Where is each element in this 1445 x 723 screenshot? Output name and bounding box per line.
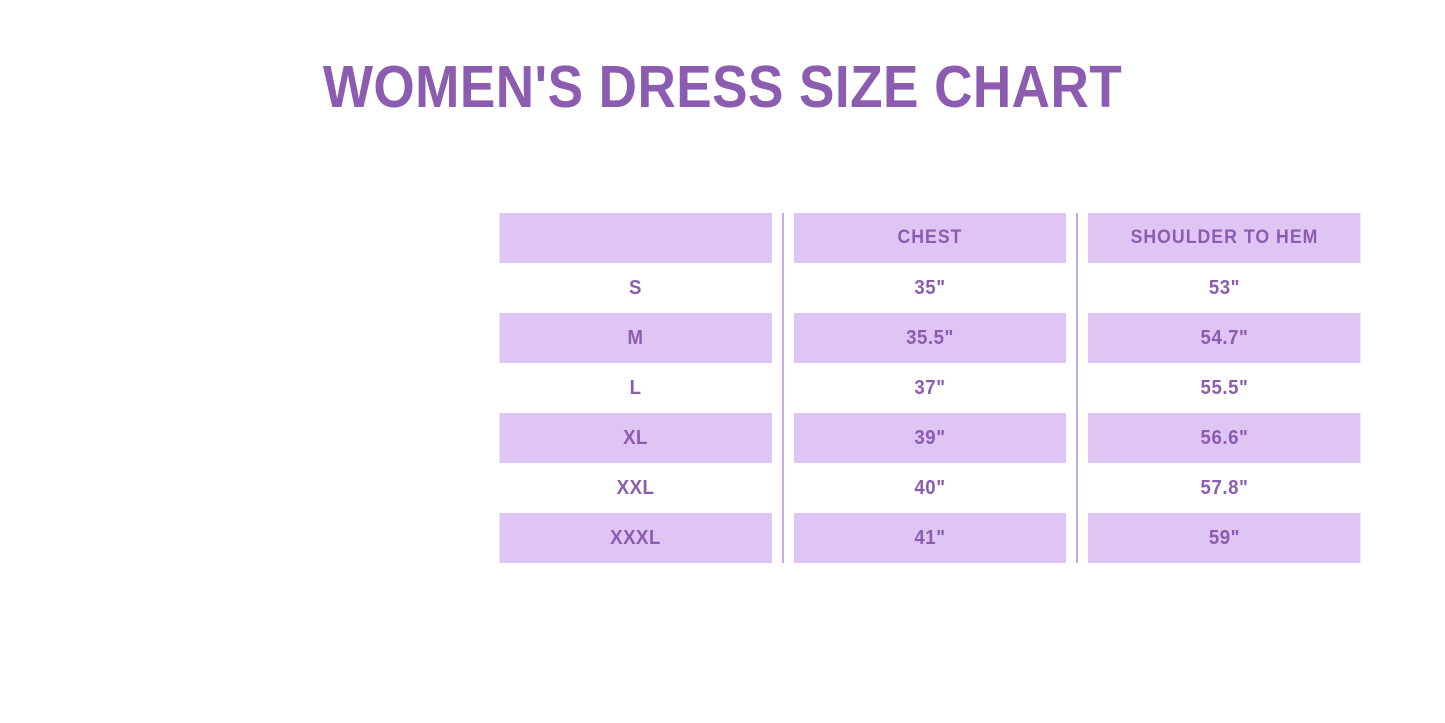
cell-size: XXXL (499, 513, 772, 563)
table-header-row: CHEST SHOULDER TO HEM (489, 213, 1371, 263)
cell-chest: 37" (793, 363, 1066, 413)
cell-size: XXL (499, 463, 772, 513)
cell-shoulder-to-hem: 59" (1087, 513, 1360, 563)
column-header-shoulder-to-hem: SHOULDER TO HEM (1087, 213, 1360, 263)
cell-chest: 39" (793, 413, 1066, 463)
cell-chest: 35" (793, 263, 1066, 313)
table-row: S 35" 53" (489, 263, 1371, 313)
cell-chest: 40" (793, 463, 1066, 513)
cell-chest: 41" (793, 513, 1066, 563)
cell-size: M (499, 313, 772, 363)
cell-shoulder-to-hem: 57.8" (1087, 463, 1360, 513)
column-header-chest: CHEST (793, 213, 1066, 263)
cell-shoulder-to-hem: 55.5" (1087, 363, 1360, 413)
column-header-size (499, 213, 772, 263)
cell-shoulder-to-hem: 56.6" (1087, 413, 1360, 463)
cell-shoulder-to-hem: 53" (1087, 263, 1360, 313)
table-row: XXXL 41" 59" (489, 513, 1371, 563)
table-row: L 37" 55.5" (489, 363, 1371, 413)
size-chart-table: CHEST SHOULDER TO HEM S 35" 53" M 35.5" … (489, 213, 1371, 563)
cell-chest: 35.5" (793, 313, 1066, 363)
table-row: XL 39" 56.6" (489, 413, 1371, 463)
cell-size: S (499, 263, 772, 313)
table-row: XXL 40" 57.8" (489, 463, 1371, 513)
cell-size: XL (499, 413, 772, 463)
table-row: M 35.5" 54.7" (489, 313, 1371, 363)
cell-shoulder-to-hem: 54.7" (1087, 313, 1360, 363)
page-title: WOMEN'S DRESS SIZE CHART (72, 58, 1373, 117)
cell-size: L (499, 363, 772, 413)
